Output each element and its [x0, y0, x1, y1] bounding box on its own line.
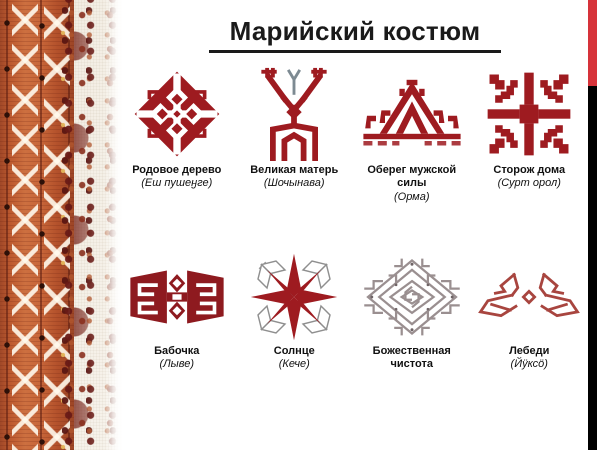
ornament-cell: Сторож дома (Сурт орол): [471, 66, 589, 251]
butterfly-ornament: [125, 251, 229, 343]
woven-dot-column: [36, 0, 48, 450]
ornament-native-name: (Сурт орол): [493, 177, 565, 190]
sun-eight-point-star-ornament: [248, 251, 340, 343]
ornament-cell: Бабочка (Лыве): [118, 251, 236, 436]
ornament-row: Бабочка (Лыве): [118, 251, 588, 436]
house-guard-medallion-ornament: [481, 66, 577, 162]
swans-ornament: [476, 251, 582, 343]
male-strength-arch-ornament: [358, 66, 466, 162]
ornament-caption: Великая матерь (Шочынава): [250, 164, 338, 191]
ornament-name: Родовое дерево: [132, 164, 221, 176]
ornament-native-name: (Кече): [274, 358, 315, 371]
ornament-cell: Лебеди (Йӱксӧ): [471, 251, 589, 436]
ornament-name: Оберег мужской силы: [367, 164, 456, 189]
ornament-grid: Родовое дерево (Еш пушеӈге): [118, 66, 588, 436]
great-mother-figure-ornament: [254, 66, 334, 162]
woven-dot-column: [1, 0, 13, 450]
ornament-caption: Сторож дома (Сурт орол): [493, 164, 565, 191]
page-title: Марийский костюм: [140, 16, 570, 47]
ornament-cell: Родовое дерево (Еш пушеӈге): [118, 66, 236, 251]
ornament-native-name: (Лыве): [154, 358, 199, 371]
ornament-cell: Великая матерь (Шочынава): [236, 66, 354, 251]
woven-x-motif-column: [12, 0, 38, 450]
ornament-cell: Солнце (Кече): [236, 251, 354, 436]
ornament-name: Солнце: [274, 345, 315, 357]
ornament-native-name: (Еш пушеӈге): [132, 177, 221, 190]
ornament-caption: Бабочка (Лыве): [154, 345, 199, 372]
divine-purity-meander-ornament: [360, 251, 464, 343]
ornament-native-name: (Орма): [353, 191, 471, 204]
ornament-caption: Оберег мужской силы (Орма): [353, 164, 471, 204]
ornament-name: Сторож дома: [493, 164, 565, 176]
ornament-caption: Родовое дерево (Еш пушеӈге): [132, 164, 221, 191]
right-accent-bar-black: [588, 86, 597, 450]
right-accent-bar-red: [588, 0, 597, 86]
slide-canvas: Марийский костюм: [0, 0, 600, 450]
ornament-name: Лебеди: [509, 345, 549, 357]
ornament-caption: Солнце (Кече): [274, 345, 315, 372]
ornament-name: Бабочка: [154, 345, 199, 357]
ornament-caption: Божественная чистота: [353, 345, 471, 372]
ornament-cell: Божественная чистота: [353, 251, 471, 436]
ornament-name: Великая матерь: [250, 164, 338, 176]
ornament-cell: Оберег мужской силы (Орма): [353, 66, 471, 251]
ornament-native-name: (Шочынава): [250, 177, 338, 190]
title-underline: [209, 50, 501, 53]
ornament-row: Родовое дерево (Еш пушеӈге): [118, 66, 588, 251]
textile-border-image: [0, 0, 122, 450]
ornament-caption: Лебеди (Йӱксӧ): [509, 345, 549, 372]
rhombus-family-tree-ornament: [129, 66, 225, 162]
ornament-name: Божественная чистота: [373, 345, 451, 370]
ornament-native-name: (Йӱксӧ): [509, 358, 549, 371]
